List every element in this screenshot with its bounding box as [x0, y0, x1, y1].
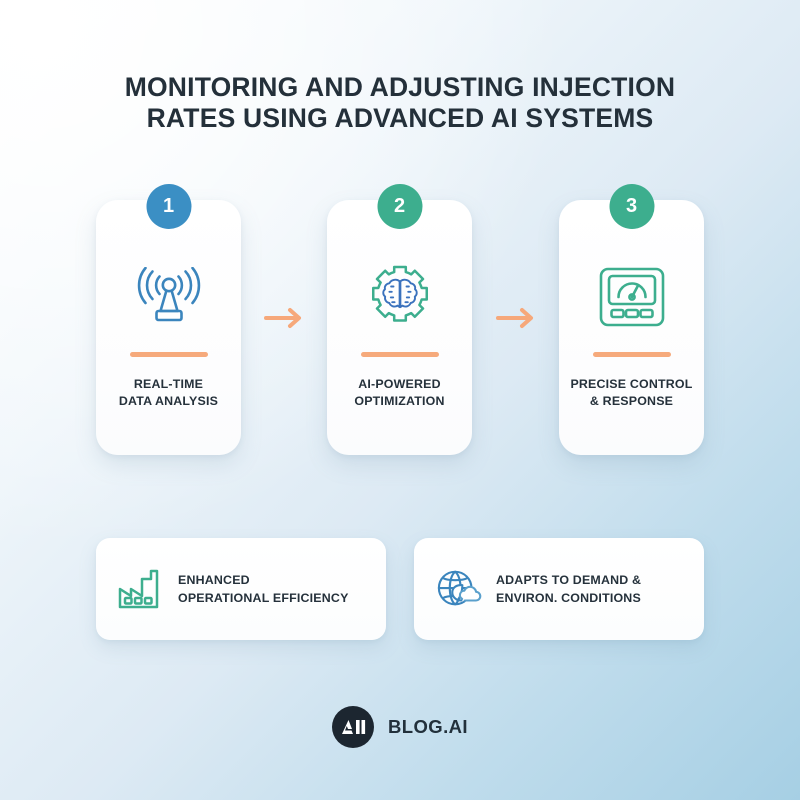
card-divider-2	[361, 352, 439, 357]
title-line-2: RATES USING ADVANCED AI SYSTEMS	[70, 103, 730, 134]
step-label-1-line-1: REAL-TIME	[102, 376, 235, 393]
benefit-label-1-line-2: OPERATIONAL EFFICIENCY	[178, 589, 349, 607]
step-number-2: 2	[394, 195, 405, 218]
step-number-3: 3	[626, 195, 637, 218]
benefit-label-2-line-1: ADAPTS TO DEMAND &	[496, 571, 641, 589]
benefit-label-2: ADAPTS TO DEMAND & ENVIRON. CONDITIONS	[496, 571, 641, 607]
step-label-1: REAL-TIME DATA ANALYSIS	[102, 376, 235, 410]
step-label-2: AI-POWERED OPTIMIZATION	[333, 376, 466, 410]
process-steps: 1 REAL-TIME DATA ANALYSIS	[96, 200, 704, 455]
step-card-3[interactable]: 3 PRECISE CONTROL & RESPONSE	[559, 200, 704, 455]
benefit-label-1: ENHANCED OPERATIONAL EFFICIENCY	[178, 571, 349, 607]
step-label-3: PRECISE CONTROL & RESPONSE	[565, 376, 698, 410]
step-label-3-line-1: PRECISE CONTROL	[565, 376, 698, 393]
step-number-1: 1	[163, 195, 174, 218]
title-line-1: MONITORING AND ADJUSTING INJECTION	[70, 72, 730, 103]
gear-brain-icon	[327, 258, 472, 336]
benefit-label-1-line-1: ENHANCED	[178, 571, 349, 589]
benefit-label-2-line-2: ENVIRON. CONDITIONS	[496, 589, 641, 607]
globe-leaf-cloud-icon	[436, 566, 482, 612]
step-badge-2: 2	[377, 184, 422, 229]
card-divider-1	[130, 352, 208, 357]
step-label-2-line-2: OPTIMIZATION	[333, 393, 466, 410]
factory-icon	[118, 566, 164, 612]
step-card-1[interactable]: 1 REAL-TIME DATA ANALYSIS	[96, 200, 241, 455]
brand-name: BLOG.AI	[388, 716, 468, 738]
benefit-cards: ENHANCED OPERATIONAL EFFICIENCY ADAPTS T…	[96, 538, 704, 640]
step-label-1-line-2: DATA ANALYSIS	[102, 393, 235, 410]
step-label-2-line-1: AI-POWERED	[333, 376, 466, 393]
step-badge-1: 1	[146, 184, 191, 229]
step-card-2[interactable]: 2 AI-POWERED	[327, 200, 472, 455]
benefit-card-1[interactable]: ENHANCED OPERATIONAL EFFICIENCY	[96, 538, 386, 640]
broadcast-antenna-icon	[96, 258, 241, 336]
arrow-right-icon-2	[495, 305, 539, 331]
step-badge-3: 3	[609, 184, 654, 229]
benefit-card-2[interactable]: ADAPTS TO DEMAND & ENVIRON. CONDITIONS	[414, 538, 704, 640]
gauge-control-panel-icon	[559, 258, 704, 336]
card-divider-3	[593, 352, 671, 357]
page-title: MONITORING AND ADJUSTING INJECTION RATES…	[70, 72, 730, 134]
ai-logo-icon	[332, 706, 374, 748]
arrow-right-icon-1	[263, 305, 307, 331]
infographic-canvas: MONITORING AND ADJUSTING INJECTION RATES…	[0, 0, 800, 800]
footer-brand: BLOG.AI	[0, 706, 800, 748]
step-label-3-line-2: & RESPONSE	[565, 393, 698, 410]
